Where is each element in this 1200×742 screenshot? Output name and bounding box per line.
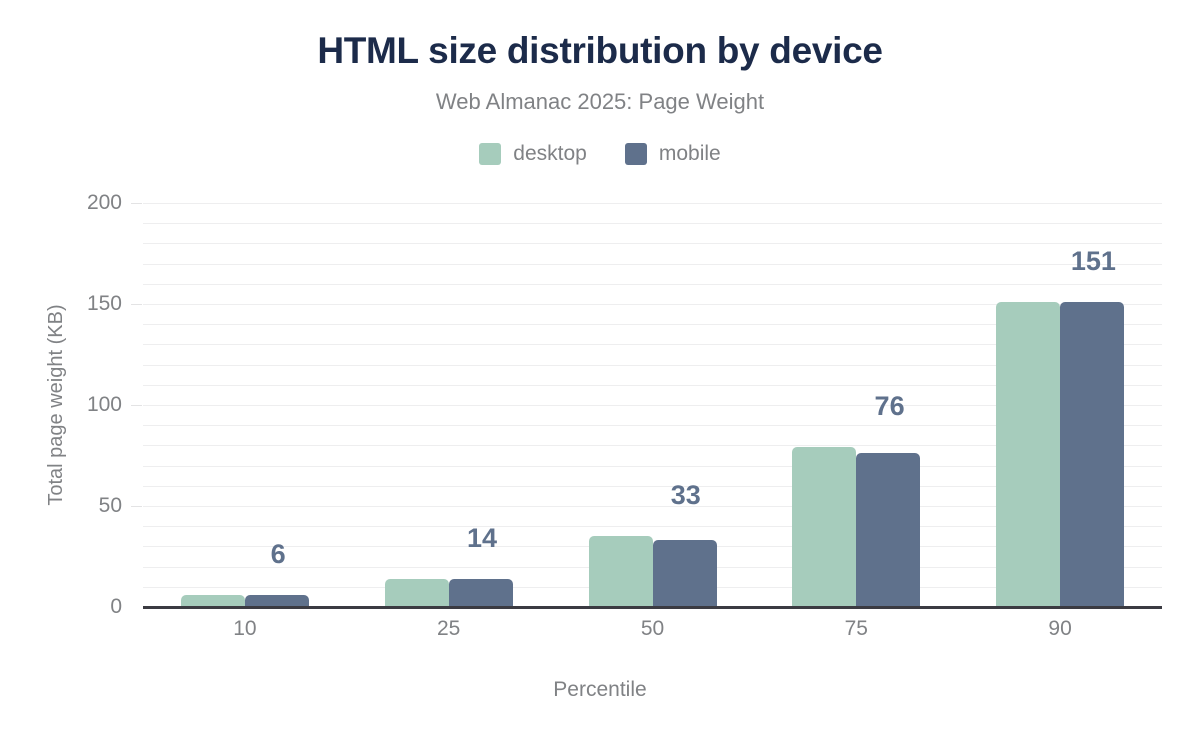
gridline <box>143 284 1162 285</box>
y-tick-label-100: 100 <box>12 393 122 417</box>
plot-area: 6143376151 <box>143 203 1162 607</box>
y-tick-label-200: 200 <box>12 191 122 215</box>
bar-mobile-75[interactable] <box>856 453 920 607</box>
x-tick-label-10: 10 <box>233 617 256 641</box>
x-tick-label-50: 50 <box>641 617 664 641</box>
bar-mobile-90[interactable] <box>1060 302 1124 607</box>
data-label-10: 6 <box>271 539 286 570</box>
x-tick-label-25: 25 <box>437 617 460 641</box>
data-label-25: 14 <box>467 523 497 554</box>
y-tick-mark <box>131 506 142 507</box>
gridline <box>143 223 1162 224</box>
gridline <box>143 203 1162 204</box>
chart-subtitle: Web Almanac 2025: Page Weight <box>0 89 1200 115</box>
bar-desktop-25[interactable] <box>385 579 449 607</box>
y-tick-mark <box>131 304 142 305</box>
data-label-50: 33 <box>671 480 701 511</box>
gridline <box>143 243 1162 244</box>
bar-desktop-50[interactable] <box>589 536 653 607</box>
y-tick-mark <box>131 405 142 406</box>
bar-desktop-90[interactable] <box>996 302 1060 607</box>
y-tick-label-50: 50 <box>12 494 122 518</box>
legend-swatch-mobile <box>625 143 647 165</box>
legend-item-desktop[interactable]: desktop <box>479 142 587 166</box>
x-tick-label-75: 75 <box>845 617 868 641</box>
bar-mobile-25[interactable] <box>449 579 513 607</box>
legend-swatch-desktop <box>479 143 501 165</box>
x-tick-label-90: 90 <box>1048 617 1071 641</box>
x-axis-title: Percentile <box>0 678 1200 702</box>
legend-label-desktop: desktop <box>513 142 587 166</box>
data-label-90: 151 <box>1071 246 1116 277</box>
y-tick-mark <box>131 607 142 608</box>
x-axis-line <box>143 606 1162 609</box>
y-tick-mark <box>131 203 142 204</box>
legend-item-mobile[interactable]: mobile <box>625 142 721 166</box>
bar-desktop-75[interactable] <box>792 447 856 607</box>
y-tick-label-150: 150 <box>12 292 122 316</box>
chart-title: HTML size distribution by device <box>0 30 1200 72</box>
data-label-75: 76 <box>875 391 905 422</box>
chart-container: HTML size distribution by device Web Alm… <box>0 0 1200 742</box>
y-tick-label-0: 0 <box>12 595 122 619</box>
bar-mobile-50[interactable] <box>653 540 717 607</box>
gridline <box>143 264 1162 265</box>
chart-legend: desktopmobile <box>0 142 1200 166</box>
legend-label-mobile: mobile <box>659 142 721 166</box>
